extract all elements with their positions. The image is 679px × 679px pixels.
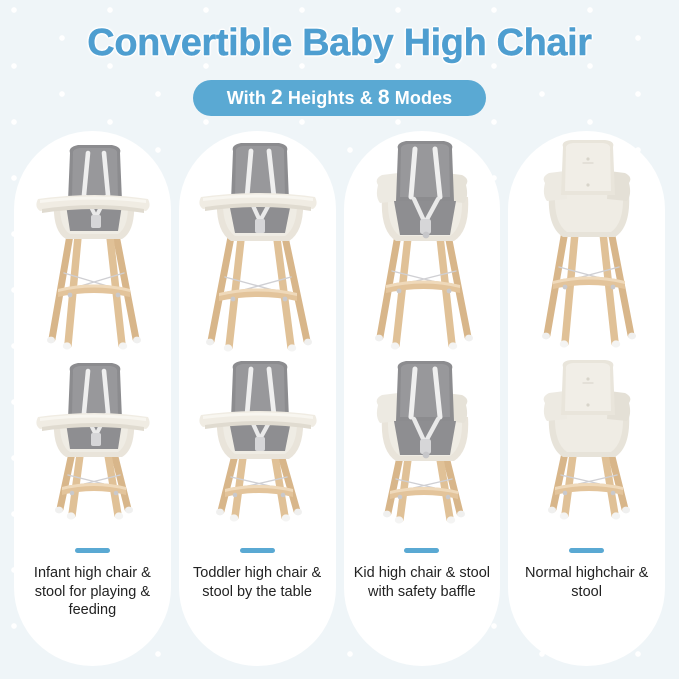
chair-image-high-toddler — [179, 139, 336, 355]
caption-block: Infant high chair & stool for playing & … — [14, 542, 171, 666]
subtitle-heights-count: 2 — [271, 86, 283, 109]
stool-bare-shell-illustration — [508, 357, 665, 529]
caption-block: Normal highchair & stool — [508, 542, 665, 666]
chair-image-stool-kid — [344, 357, 501, 529]
subtitle-badge: With 2 Heights & 8 Modes — [193, 80, 487, 116]
subtitle-modes-count: 8 — [378, 86, 390, 109]
stool-with-tray-illustration — [14, 357, 171, 529]
card-caption: Kid high chair & stool with safety baffl… — [351, 564, 493, 601]
card-caption: Toddler high chair & stool by the table — [186, 564, 328, 601]
subtitle-suffix: Modes — [390, 88, 453, 108]
accent-dash — [240, 548, 275, 553]
header: Convertible Baby High Chair With 2 Heigh… — [0, 0, 679, 128]
card-caption: Normal highchair & stool — [516, 564, 658, 601]
high-chair-bare-shell-illustration — [508, 139, 665, 355]
subtitle-mid: Heights & — [283, 88, 378, 108]
chair-image-high-infant — [14, 139, 171, 355]
caption-block: Toddler high chair & stool by the table — [179, 542, 336, 666]
high-chair-with-tray-illustration — [14, 139, 171, 355]
infographic-page: Convertible Baby High Chair With 2 Heigh… — [0, 0, 679, 679]
subtitle-badge-wrap: With 2 Heights & 8 Modes — [0, 80, 679, 116]
high-chair-with-tray-illustration — [179, 139, 336, 355]
page-title: Convertible Baby High Chair — [0, 22, 679, 65]
high-chair-no-tray-illustration — [344, 139, 501, 355]
accent-dash — [569, 548, 604, 553]
chair-image-stool-toddler — [179, 357, 336, 529]
chair-image-stool-infant — [14, 357, 171, 529]
chair-image-stool-normal — [508, 357, 665, 529]
subtitle-prefix: With — [227, 88, 271, 108]
stool-no-tray-illustration — [344, 357, 501, 529]
mode-card-toddler[interactable]: Toddler high chair & stool by the table — [179, 131, 336, 666]
mode-card-infant[interactable]: Infant high chair & stool for playing & … — [14, 131, 171, 666]
mode-card-normal[interactable]: Normal highchair & stool — [508, 131, 665, 666]
card-caption: Infant high chair & stool for playing & … — [21, 564, 163, 620]
mode-card-grid: Infant high chair & stool for playing & … — [14, 131, 665, 666]
mode-card-kid[interactable]: Kid high chair & stool with safety baffl… — [344, 131, 501, 666]
caption-block: Kid high chair & stool with safety baffl… — [344, 542, 501, 666]
chair-image-high-kid — [344, 139, 501, 355]
accent-dash — [404, 548, 439, 553]
chair-image-high-normal — [508, 139, 665, 355]
accent-dash — [75, 548, 110, 553]
stool-with-tray-illustration — [179, 357, 336, 529]
